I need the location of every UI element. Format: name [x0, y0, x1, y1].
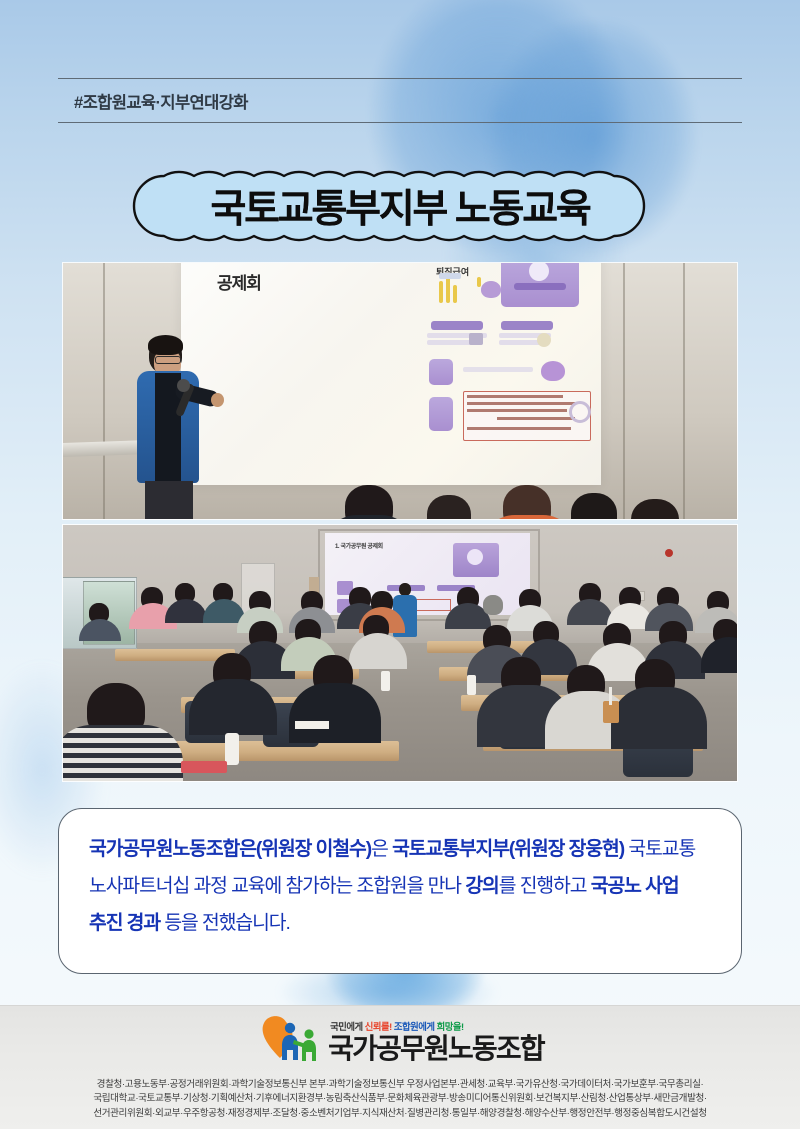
speaker-legs — [145, 481, 193, 520]
speaker-hair — [148, 335, 183, 355]
cup — [467, 675, 476, 695]
cup — [381, 671, 390, 691]
brand-block: 국민에게 신뢰를! 조합원에게 희망을! 국가공무원노동조합 — [0, 1016, 800, 1066]
page-title: 국토교통부지부 노동교육 — [98, 165, 702, 247]
union-name: 국가공무원노동조합 — [328, 1035, 544, 1063]
department-line: 국립대학교·국토교통부·기상청·기획예산처·기후에너지환경부·농림축산식품부·문… — [24, 1092, 776, 1106]
summary-segment-7: 등을 전했습니다. — [160, 913, 290, 934]
glasses-icon — [155, 356, 181, 364]
attendee-body — [289, 683, 381, 743]
hashtag-label: #조합원교육·지부연대강화 — [58, 89, 248, 113]
straw — [609, 687, 612, 705]
summary-text: 국가공무원노동조합은(위원장 이철수)은 국토교통부지부(위원장 장웅현) 국토… — [89, 831, 711, 942]
photo-stack: 공제회 퇴직후 월소득로 노후를 위하여 퇴직급여 — [62, 262, 738, 782]
summary-segment-0: 국가공무원노동조합은(위원장 이철수) — [89, 839, 371, 860]
union-logo-icon — [256, 1016, 322, 1066]
summary-segment-4: 강의 — [465, 876, 498, 897]
lecture-photo-classroom: 1. 국가공무원 공제회 — [62, 524, 738, 782]
summary-segment-2: 국토교통부지부(위원장 장웅현) — [392, 839, 624, 860]
footer: 국민에게 신뢰를! 조합원에게 희망을! 국가공무원노동조합 경찰청·고용노동부… — [0, 1005, 800, 1129]
slide-title: 공제회 — [217, 269, 261, 294]
union-slogan: 국민에게 신뢰를! 조합원에게 희망을! — [328, 1019, 544, 1033]
paper — [295, 721, 329, 729]
brand-text-block: 국민에게 신뢰를! 조합원에게 희망을! 국가공무원노동조합 — [328, 1019, 544, 1063]
attendee-body — [189, 679, 277, 735]
red-leaflet — [181, 761, 227, 773]
summary-card: 국가공무원노동조합은(위원장 이철수)은 국토교통부지부(위원장 장웅현) 국토… — [58, 808, 742, 974]
slogan-part-1: 국민에게 — [330, 1021, 365, 1032]
speaker-hand — [211, 393, 224, 407]
department-line: 경찰청·고용노동부·공정거래위원회·과학기술정보통신부 본부·과학기술정보통신부… — [24, 1078, 776, 1092]
summary-segment-5: 를 진행하고 — [499, 876, 591, 897]
fire-alarm-icon — [665, 549, 673, 557]
attendee-body — [611, 687, 707, 749]
poster-root: #조합원교육·지부연대강화 국토교통부지부 노동교육 공제회 퇴직후 월소득로 … — [0, 0, 800, 1129]
department-list: 경찰청·고용노동부·공정거래위원회·과학기술정보통신부 본부·과학기술정보통신부… — [24, 1078, 776, 1121]
union-logo — [256, 1016, 322, 1066]
title-banner: 국토교통부지부 노동교육 — [98, 165, 702, 247]
slogan-part-2: 신뢰를! — [365, 1021, 394, 1032]
department-line: 선거관리위원회·외교부·우주항공청·재정경제부·조달청·중소벤처기업부·지식재산… — [24, 1107, 776, 1121]
presentation-screen: 공제회 퇴직후 월소득로 노후를 위하여 퇴직급여 — [181, 262, 601, 485]
slogan-part-3: 조합원에게 — [394, 1021, 437, 1032]
slide-title-2: 1. 국가공무원 공제회 — [335, 541, 383, 550]
lecture-photo-speaker: 공제회 퇴직후 월소득로 노후를 위하여 퇴직급여 — [62, 262, 738, 520]
attendee-body-foreground — [62, 725, 183, 782]
slogan-part-4: 희망을! — [437, 1021, 464, 1032]
microphone-head — [177, 379, 190, 392]
summary-segment-1: 은 — [371, 839, 392, 860]
tumbler — [225, 733, 239, 765]
attendee-head — [483, 595, 503, 615]
hashtag-bar: #조합원교육·지부연대강화 — [58, 78, 742, 123]
